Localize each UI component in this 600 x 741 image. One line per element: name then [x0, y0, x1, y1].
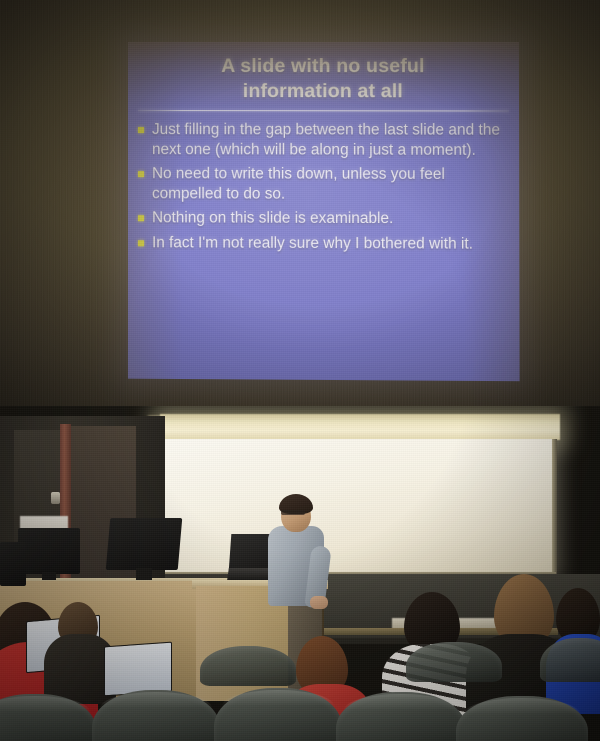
monitor-stand — [136, 568, 152, 580]
monitor-stand — [42, 572, 56, 580]
lecturer-hand — [310, 596, 328, 609]
glasses-icon — [281, 510, 305, 515]
lecture-hall-photo: A slide with no useful information at al… — [0, 0, 600, 741]
seat — [406, 642, 502, 682]
monitor — [0, 542, 26, 586]
whiteboard-frame-right — [552, 439, 557, 577]
wall-vignette — [0, 0, 600, 418]
monitor — [18, 528, 80, 574]
laptop-screen — [104, 642, 172, 697]
ceiling-light-strip — [160, 414, 560, 440]
whiteboard — [162, 439, 554, 574]
monitor — [106, 518, 183, 570]
seat — [200, 646, 296, 686]
lecture-room — [0, 406, 600, 741]
wall-lamp-icon — [51, 492, 60, 504]
